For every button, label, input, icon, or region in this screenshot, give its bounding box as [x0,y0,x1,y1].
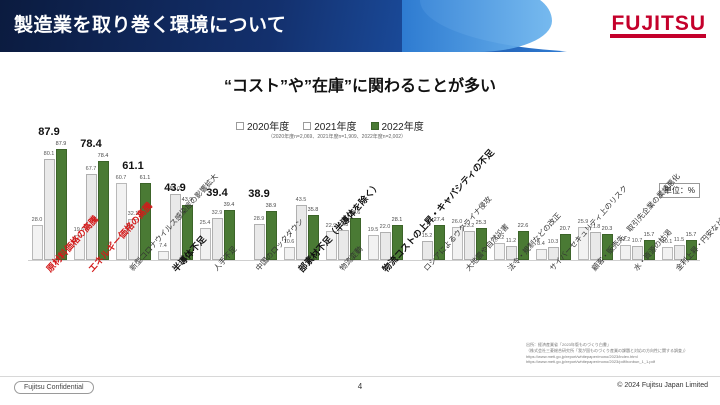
bar-value-label: 38.9 [266,203,277,209]
bar-value-label-prominent: 78.4 [80,138,101,150]
bar-value-label: 80.1 [44,151,55,157]
bar-value-label: 10.3 [548,239,559,245]
bar-2020年度: 7.4 [158,251,169,260]
legend-label: 2022年度 [382,118,424,133]
bar-value-label: 22.6 [518,223,529,229]
copyright-text: © 2024 Fujitsu Japan Limited [617,382,708,389]
bar-value-label: 25.3 [476,220,487,226]
bar-value-label: 35.8 [308,207,319,213]
legend-item-2021: 2021年度 [303,118,356,133]
legend-swatch-icon [303,122,311,130]
chart-legend: 2020年度 2021年度 2022年度 [236,118,424,133]
fujitsu-logo-underline-icon [610,34,706,38]
source-note: 出所：経済産業省「2023年版ものづくり白書」（株式会社三菱総合研究所「我が国も… [526,342,702,365]
bar-value-label: 60.7 [116,175,127,181]
footer-divider [0,376,720,377]
legend-swatch-icon [371,122,379,130]
bar-2021年度: 80.1 [44,159,55,260]
chart-title: “コスト”や”在庫”に関わることが多い [0,72,720,96]
bar-value-label: 61.1 [140,175,151,181]
legend-label: 2021年度 [314,118,356,133]
bar-value-label: 67.7 [86,166,97,172]
bar-value-label: 10.7 [632,238,643,244]
bar-2020年度: 10.1 [662,247,673,260]
bar-value-label: 78.4 [98,153,109,159]
bar-value-label: 43.5 [296,197,307,203]
bar-value-label: 25.4 [200,220,211,226]
bar-value-label: 28.9 [254,216,265,222]
bar-2020年度: 28.0 [32,225,43,260]
fujitsu-logo: FUJITSU [611,12,706,36]
bar-value-label: 28.0 [32,217,43,223]
bar-value-label: 19.5 [368,227,379,233]
bar-value-label: 22.0 [380,224,391,230]
legend-label: 2020年度 [247,118,289,133]
bar-value-label: 20.7 [560,226,571,232]
bar-value-label: 15.7 [644,232,655,238]
bar-value-label-prominent: 43.9 [164,182,185,194]
bar-value-label-prominent: 38.9 [248,188,269,200]
bar-value-label: 11.5 [674,237,684,243]
bar-2020年度: 10.6 [284,247,295,260]
page-number: 4 [0,382,720,391]
bar-value-label-prominent: 87.9 [38,126,59,138]
bar-value-label-prominent: 61.1 [122,160,143,172]
bar-2020年度: 12.2 [620,245,631,260]
legend-swatch-icon [236,122,244,130]
bar-value-label: 87.9 [56,141,67,147]
legend-sample-size-note: （2020年度n=2,069、2021年度n=1,909、2022年度n=2,0… [268,133,406,140]
bar-value-label: 28.1 [392,217,403,223]
legend-item-2020: 2020年度 [236,118,289,133]
bar-value-label: 32.9 [212,210,223,216]
legend-item-2022: 2022年度 [371,118,424,133]
page-title: 製造業を取り巻く環境について [14,10,286,37]
bar-2020年度: 19.5 [368,235,379,260]
bar-value-label: 15.7 [686,232,697,238]
bar-2020年度: 8.4 [536,249,547,260]
bar-value-label: 20.3 [602,226,613,232]
bar-value-label: 39.4 [224,202,235,208]
bar-value-label: 11.2 [506,238,516,244]
